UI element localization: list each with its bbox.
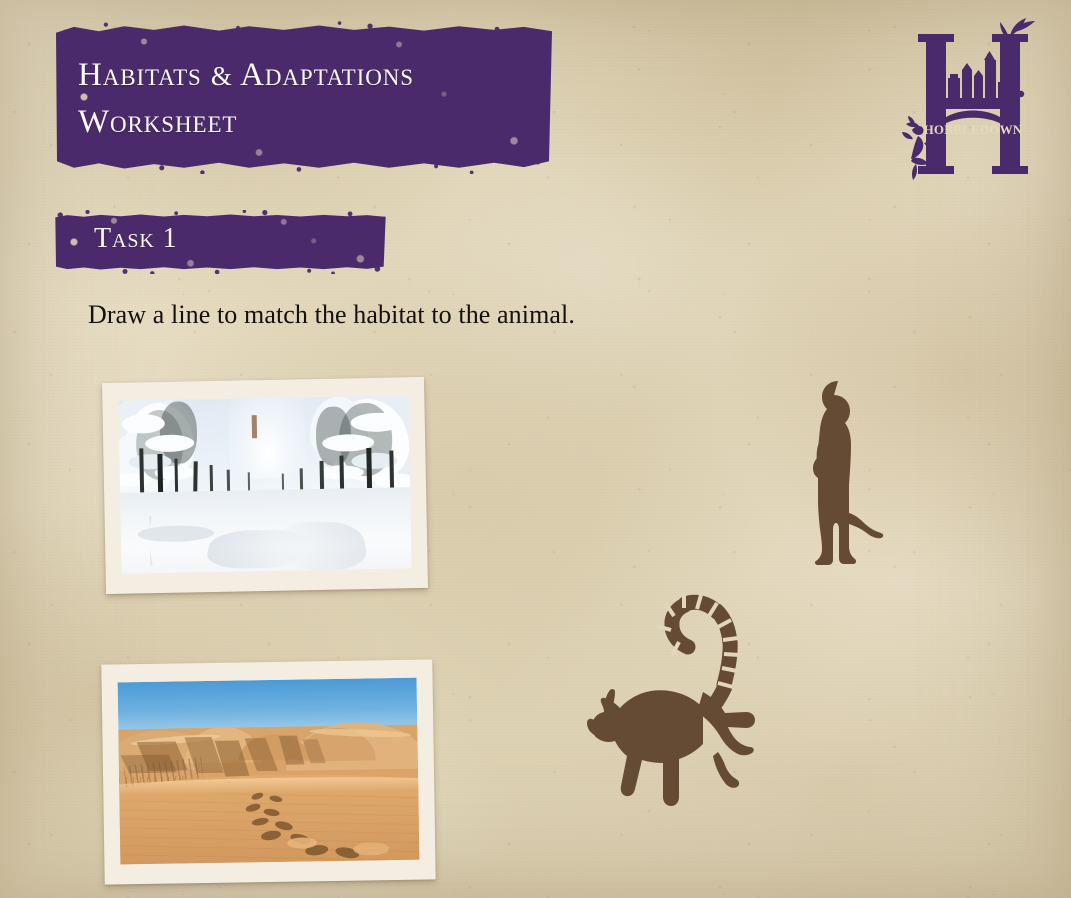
lemur-silhouette-svg — [585, 560, 785, 845]
meerkat-silhouette-svg — [800, 378, 890, 570]
task-label: Task 1 — [94, 223, 178, 255]
habitat-desert-card[interactable] — [101, 659, 435, 884]
desert-dunes-photo — [118, 678, 420, 865]
meerkat-silhouette[interactable] — [800, 378, 890, 570]
snowy-forest-photo — [118, 395, 411, 574]
title-ampersand: & — [211, 61, 233, 91]
title-line-2: Worksheet — [78, 104, 237, 140]
habitat-forest-card[interactable] — [102, 377, 428, 594]
title-line-1-post: Adaptations — [240, 57, 414, 93]
task-instruction: Draw a line to match the habitat to the … — [88, 300, 575, 330]
hobbledown-logo: HOBBLEDOWN — [888, 12, 1058, 192]
hobbledown-wordmark: HOBBLEDOWN — [924, 122, 1023, 137]
title-banner: Habitats & Adaptations Worksheet — [54, 24, 554, 170]
page-title: Habitats & Adaptations Worksheet — [78, 52, 544, 145]
ring-tailed-lemur-silhouette[interactable] — [585, 560, 785, 845]
task-banner: Task 1 — [54, 214, 387, 270]
hobbledown-logo-svg: HOBBLEDOWN — [888, 12, 1058, 192]
title-line-1-pre: Habitats — [78, 57, 202, 93]
